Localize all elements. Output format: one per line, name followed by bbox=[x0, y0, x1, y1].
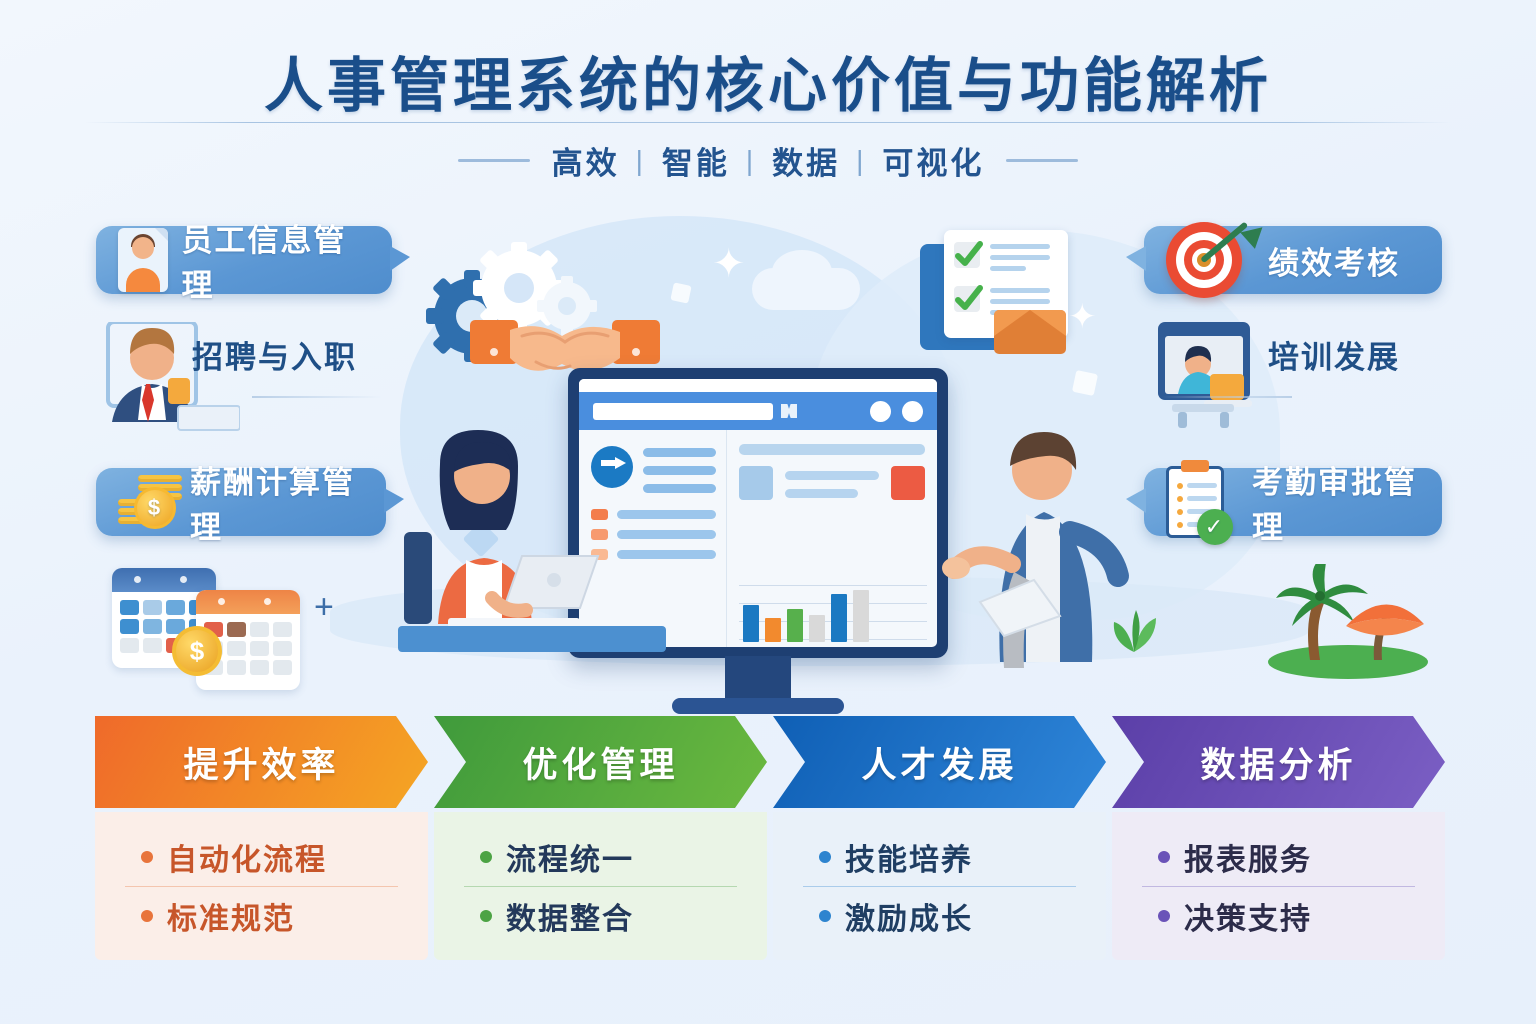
card-list-item[interactable]: 自动化流程 bbox=[95, 828, 428, 886]
search-input[interactable] bbox=[593, 403, 773, 420]
label-training[interactable]: 培训发展 bbox=[1268, 332, 1400, 377]
gridline bbox=[739, 585, 927, 586]
label-performance[interactable]: 绩效考核 bbox=[1144, 226, 1442, 294]
subtitle-keyword-4: 可视化 bbox=[882, 138, 984, 183]
card-list-item-label: 自动化流程 bbox=[167, 835, 327, 879]
window-control-dot[interactable] bbox=[902, 401, 923, 422]
bullet-icon bbox=[819, 851, 831, 863]
card-list-item[interactable]: 流程统一 bbox=[434, 828, 767, 886]
browser-tabbar bbox=[579, 379, 937, 392]
card-list-item[interactable]: 报表服务 bbox=[1112, 828, 1445, 886]
subtitle-separator-3: | bbox=[856, 145, 866, 177]
menu-icon[interactable] bbox=[781, 404, 797, 418]
bullet-icon bbox=[141, 851, 153, 863]
card-list-item-label: 激励成长 bbox=[845, 894, 973, 938]
id-card-icon bbox=[118, 228, 168, 292]
chart-bar bbox=[809, 615, 825, 642]
desk-surface bbox=[398, 626, 666, 652]
bullet-icon bbox=[141, 910, 153, 922]
value-arrow-label: 人才发展 bbox=[861, 737, 1017, 788]
calendar-header bbox=[112, 568, 216, 592]
calendar-ring bbox=[134, 576, 141, 583]
illustration-scene: ✦ ✦ ✦ ✦ bbox=[0, 196, 1536, 696]
card-list-item[interactable]: 决策支持 bbox=[1112, 887, 1445, 945]
title-divider bbox=[84, 122, 1452, 123]
dashboard-right-panel bbox=[727, 430, 937, 647]
value-arrow-4[interactable]: 数据分析 bbox=[1112, 716, 1445, 808]
calendar-header bbox=[196, 590, 300, 614]
target-icon bbox=[1166, 222, 1242, 298]
label-text: 薪酬计算管理 bbox=[190, 457, 364, 547]
value-arrow-2[interactable]: 优化管理 bbox=[434, 716, 767, 808]
calendar-ring bbox=[264, 598, 271, 605]
cloud-icon-puff bbox=[772, 250, 832, 294]
calendar-ring bbox=[180, 576, 187, 583]
browser-toolbar bbox=[579, 392, 937, 430]
label-text: 培训发展 bbox=[1268, 340, 1400, 375]
card-list-item-label: 报表服务 bbox=[1184, 835, 1312, 879]
label-text: 员工信息管理 bbox=[182, 215, 371, 305]
label-text: 绩效考核 bbox=[1268, 238, 1400, 283]
card-list-item[interactable]: 技能培养 bbox=[773, 828, 1106, 886]
panel-header-bar bbox=[739, 444, 925, 455]
card-list-item-label: 技能培养 bbox=[845, 835, 973, 879]
placeholder-line bbox=[785, 471, 879, 480]
envelope-icon bbox=[994, 310, 1066, 354]
window-controls[interactable] bbox=[870, 401, 923, 422]
label-text: 考勤审批管理 bbox=[1252, 457, 1420, 547]
person-woman-with-laptop bbox=[404, 428, 634, 648]
page-title: 人事管理系统的核心价值与功能解析 bbox=[0, 38, 1536, 123]
check-icon: ✓ bbox=[1197, 509, 1233, 545]
placeholder-line bbox=[643, 484, 716, 493]
value-detail-cards: 自动化流程标准规范流程统一数据整合技能培养激励成长报表服务决策支持 bbox=[95, 812, 1445, 960]
value-card-1: 自动化流程标准规范 bbox=[95, 812, 428, 960]
card-list-item-label: 数据整合 bbox=[506, 894, 634, 938]
placeholder-line bbox=[643, 448, 716, 457]
subtitle-row: 高效 | 智能 | 数据 | 可视化 bbox=[0, 138, 1536, 183]
monitor-learner-icon bbox=[1156, 320, 1268, 432]
window-control-dot[interactable] bbox=[870, 401, 891, 422]
bullet-icon bbox=[819, 910, 831, 922]
thumbnail-tile bbox=[739, 466, 773, 500]
decor-square bbox=[1072, 370, 1098, 396]
card-list-item[interactable]: 标准规范 bbox=[95, 887, 428, 945]
card-list-item[interactable]: 激励成长 bbox=[773, 887, 1106, 945]
bush-icon bbox=[1108, 600, 1162, 652]
subtitle-keyword-1: 高效 bbox=[552, 138, 620, 183]
subtitle: 高效 | 智能 | 数据 | 可视化 bbox=[552, 138, 985, 183]
subtitle-keyword-3: 数据 bbox=[772, 138, 840, 183]
value-arrow-strip: 提升效率优化管理人才发展数据分析 bbox=[95, 716, 1445, 808]
sparkle-icon: ✦ bbox=[712, 244, 746, 284]
bar-group bbox=[743, 588, 869, 642]
chart-bar bbox=[765, 618, 781, 642]
value-arrow-3[interactable]: 人才发展 bbox=[773, 716, 1106, 808]
subtitle-keyword-2: 智能 bbox=[662, 138, 730, 183]
chart-bar bbox=[831, 594, 847, 642]
value-card-2: 流程统一数据整合 bbox=[434, 812, 767, 960]
placeholder-line bbox=[785, 489, 858, 498]
value-arrow-label: 优化管理 bbox=[522, 737, 678, 788]
value-card-4: 报表服务决策支持 bbox=[1112, 812, 1445, 960]
bullet-icon bbox=[480, 910, 492, 922]
label-recruiting[interactable]: 招聘与入职 bbox=[192, 332, 357, 377]
value-card-3: 技能培养激励成长 bbox=[773, 812, 1106, 960]
placeholder-line bbox=[643, 466, 716, 475]
bullet-icon bbox=[480, 851, 492, 863]
label-payroll[interactable]: $ 薪酬计算管理 bbox=[96, 468, 386, 536]
value-arrow-1[interactable]: 提升效率 bbox=[95, 716, 428, 808]
label-attendance-approval[interactable]: ✓ 考勤审批管理 bbox=[1144, 468, 1442, 536]
monitor-stand bbox=[725, 656, 791, 700]
calendar-pair-icon: $ + bbox=[112, 568, 332, 678]
checklist-document-icon bbox=[920, 230, 1070, 360]
value-arrow-label: 提升效率 bbox=[183, 737, 339, 788]
chart-bar bbox=[743, 605, 759, 642]
bullet-icon bbox=[1158, 910, 1170, 922]
connector-line bbox=[252, 396, 382, 398]
subtitle-separator-1: | bbox=[636, 145, 646, 177]
alert-tile[interactable] bbox=[891, 466, 925, 500]
page-header: 人事管理系统的核心价值与功能解析 高效 | 智能 | 数据 | 可视化 bbox=[0, 0, 1536, 200]
chart-bar bbox=[853, 590, 869, 642]
calendar-ring bbox=[218, 598, 225, 605]
bullet-icon bbox=[1158, 851, 1170, 863]
card-list-item-label: 决策支持 bbox=[1184, 894, 1312, 938]
decor-square bbox=[670, 282, 691, 303]
connector-line bbox=[1162, 396, 1292, 398]
clipboard-check-icon: ✓ bbox=[1166, 466, 1224, 538]
sparkle-icon: ✦ bbox=[1068, 300, 1097, 334]
value-arrow-label: 数据分析 bbox=[1200, 737, 1356, 788]
label-employee-info[interactable]: 员工信息管理 bbox=[96, 226, 392, 294]
coins-icon: $ bbox=[118, 473, 176, 531]
card-list-item-label: 标准规范 bbox=[167, 894, 295, 938]
gold-coin-icon: $ bbox=[172, 626, 222, 676]
subtitle-dash-left bbox=[458, 159, 530, 162]
monitor-base bbox=[672, 698, 844, 714]
plus-icon: + bbox=[314, 590, 334, 624]
subtitle-separator-2: | bbox=[746, 145, 756, 177]
palm-umbrella-icon bbox=[1252, 564, 1442, 680]
card-list-item[interactable]: 数据整合 bbox=[434, 887, 767, 945]
card-list-item-label: 流程统一 bbox=[506, 835, 634, 879]
bar-chart bbox=[739, 585, 927, 643]
label-text: 招聘与入职 bbox=[192, 340, 357, 375]
chart-bar bbox=[787, 609, 803, 642]
subtitle-dash-right bbox=[1006, 159, 1078, 162]
